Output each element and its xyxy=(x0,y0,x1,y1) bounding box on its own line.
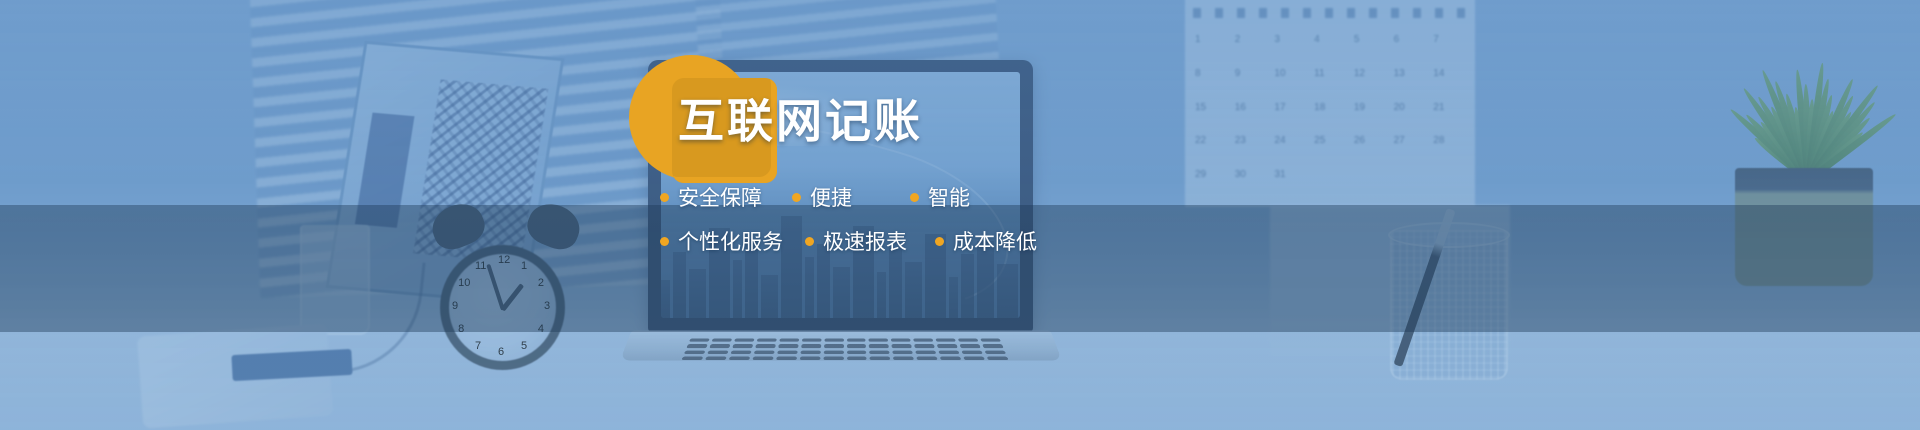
feature-list: 安全保障 便捷 智能 个性化服务 极速报表 xyxy=(660,182,1045,256)
banner-content: 互联网记账 安全保障 便捷 智能 个性化服务 xyxy=(0,0,1920,430)
feature-item: 成本降低 xyxy=(935,226,1045,256)
feature-item: 智能 xyxy=(910,182,1000,212)
bullet-dot-icon xyxy=(792,193,801,202)
feature-item: 便捷 xyxy=(792,182,910,212)
feature-label: 个性化服务 xyxy=(678,226,783,256)
feature-label: 极速报表 xyxy=(823,226,907,256)
bullet-dot-icon xyxy=(805,237,814,246)
bullet-dot-icon xyxy=(660,193,669,202)
feature-item: 安全保障 xyxy=(660,182,792,212)
bullet-dot-icon xyxy=(660,237,669,246)
bullet-dot-icon xyxy=(935,237,944,246)
bullet-dot-icon xyxy=(910,193,919,202)
feature-label: 便捷 xyxy=(810,182,852,212)
feature-label: 成本降低 xyxy=(953,226,1037,256)
feature-item: 个性化服务 xyxy=(660,226,805,256)
banner-title: 互联网记账 xyxy=(678,96,923,147)
feature-label: 智能 xyxy=(928,182,970,212)
feature-label: 安全保障 xyxy=(678,182,762,212)
feature-item: 极速报表 xyxy=(805,226,935,256)
promo-banner: 1234567891011121314151617181920212223242… xyxy=(0,0,1920,430)
feature-row-2: 个性化服务 极速报表 成本降低 xyxy=(660,226,1045,256)
feature-row-1: 安全保障 便捷 智能 xyxy=(660,182,1045,212)
